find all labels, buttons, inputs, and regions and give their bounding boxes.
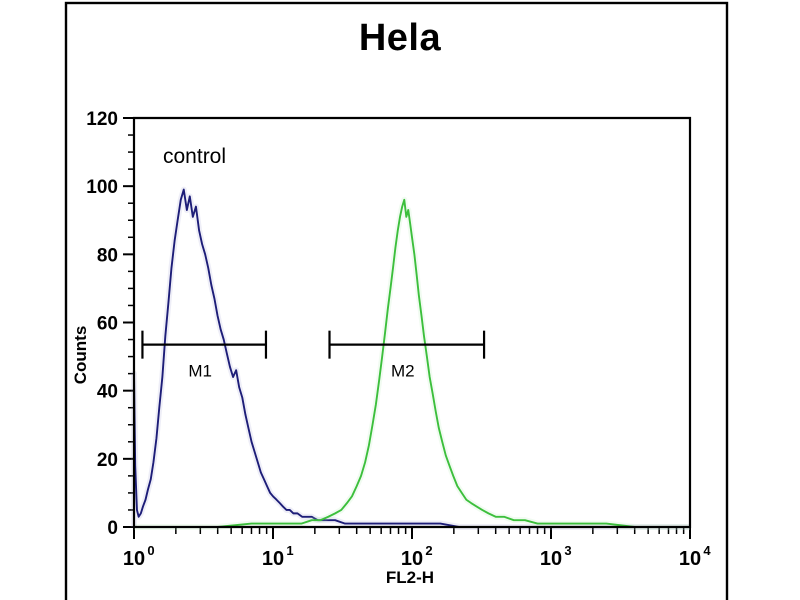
histogram-traces <box>134 190 690 527</box>
y-tick-label: 120 <box>86 109 118 130</box>
y-axis-title: Counts <box>71 326 90 385</box>
x-tick-label: 10 <box>262 548 284 570</box>
x-tick-exponent: 1 <box>286 543 293 558</box>
x-tick-label: 10 <box>540 548 562 570</box>
x-axis-title: FL2-H <box>386 568 434 587</box>
control-annotation: control <box>163 145 226 168</box>
y-tick-label: 60 <box>97 314 118 335</box>
gate-markers: M1M2 <box>142 331 484 381</box>
gate-marker-label-M1: M1 <box>188 362 212 381</box>
x-tick-exponent: 2 <box>425 543 432 558</box>
y-tick-label: 0 <box>107 518 118 539</box>
y-tick-label: 40 <box>97 382 118 403</box>
flow-cytometry-figure: Hela control Counts FL2-H 02040608010012… <box>0 0 800 600</box>
x-tick-label: 10 <box>123 548 145 570</box>
outer-frame <box>66 3 727 600</box>
y-tick-label: 80 <box>97 245 118 266</box>
x-axis-ticks: 100101102103104 <box>123 527 712 570</box>
histogram-svg: Hela control Counts FL2-H 02040608010012… <box>0 0 800 600</box>
x-tick-exponent: 0 <box>147 543 154 558</box>
x-tick-label: 10 <box>401 548 423 570</box>
y-tick-label: 100 <box>86 177 118 198</box>
page-title: Hela <box>359 17 442 59</box>
gate-marker-label-M2: M2 <box>391 362 415 381</box>
x-tick-exponent: 3 <box>564 543 571 558</box>
x-tick-exponent: 4 <box>703 543 711 558</box>
x-tick-label: 10 <box>679 548 701 570</box>
y-tick-label: 20 <box>97 450 118 471</box>
y-axis-ticks: 020406080100120 <box>86 109 134 539</box>
gate-marker-M2[interactable]: M2 <box>330 331 485 381</box>
